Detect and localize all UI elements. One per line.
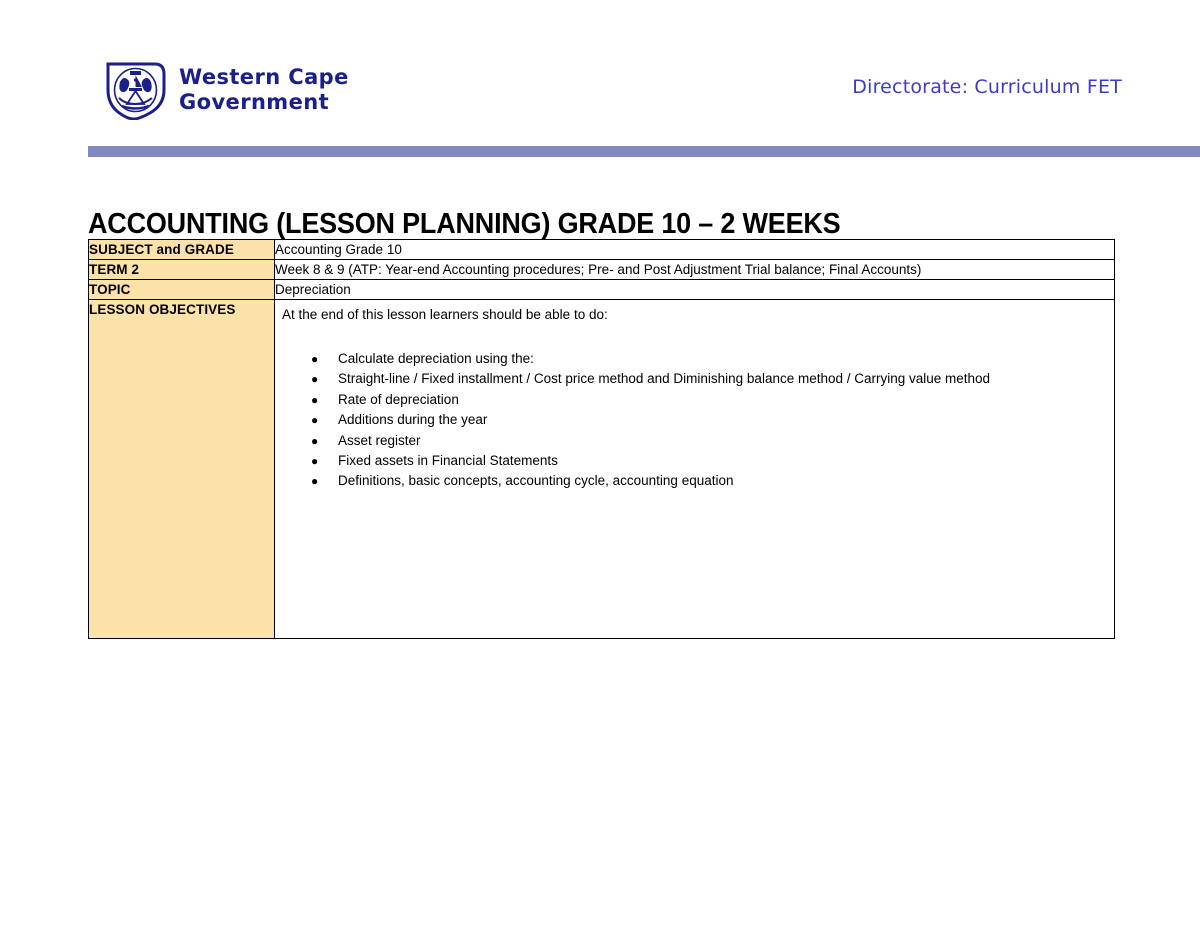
list-item: ● Asset register <box>311 431 1114 451</box>
bullet-icon: ● <box>311 349 318 369</box>
organisation-logo: Western Cape Government <box>105 60 349 120</box>
row-label-subject-and-grade: SUBJECT and GRADE <box>89 240 275 260</box>
list-item-label: Rate of depreciation <box>338 392 459 407</box>
table-row: LESSON OBJECTIVES At the end of this les… <box>89 300 1115 639</box>
bullet-icon: ● <box>311 471 318 491</box>
list-item-label: Asset register <box>338 433 421 448</box>
bullet-icon: ● <box>311 451 318 471</box>
directorate-label: Directorate: Curriculum FET <box>852 76 1122 98</box>
table-row: TERM 2 Week 8 & 9 (ATP: Year-end Account… <box>89 260 1115 280</box>
list-item: ● Rate of depreciation <box>311 390 1114 410</box>
list-item-label: Definitions, basic concepts, accounting … <box>338 473 734 488</box>
bullet-icon: ● <box>311 369 318 389</box>
row-value-term: Week 8 & 9 (ATP: Year-end Accounting pro… <box>275 260 1115 280</box>
logo-wordmark: Western Cape Government <box>179 65 349 115</box>
coat-of-arms-icon <box>105 60 167 120</box>
table-row: SUBJECT and GRADE Accounting Grade 10 <box>89 240 1115 260</box>
list-item-label: Straight-line / Fixed installment / Cost… <box>338 371 990 386</box>
row-label-lesson-objectives: LESSON OBJECTIVES <box>89 300 275 639</box>
lesson-plan-table: SUBJECT and GRADE Accounting Grade 10 TE… <box>88 239 1115 639</box>
table-row: TOPIC Depreciation <box>89 280 1115 300</box>
list-item: ● Fixed assets in Financial Statements <box>311 451 1114 471</box>
objectives-intro: At the end of this lesson learners shoul… <box>282 305 1114 324</box>
bullet-icon: ● <box>311 431 318 451</box>
row-label-term: TERM 2 <box>89 260 275 280</box>
row-value-lesson-objectives: At the end of this lesson learners shoul… <box>275 300 1115 639</box>
bullet-icon: ● <box>311 390 318 410</box>
objectives-list: ● Calculate depreciation using the: ● St… <box>282 349 1114 492</box>
list-item-label: Additions during the year <box>338 412 487 427</box>
list-item: ● Additions during the year <box>311 410 1114 430</box>
row-value-topic: Depreciation <box>275 280 1115 300</box>
bullet-icon: ● <box>311 410 318 430</box>
list-item: ● Calculate depreciation using the: <box>311 349 1114 369</box>
list-item-label: Calculate depreciation using the: <box>338 351 534 366</box>
row-value-subject-and-grade: Accounting Grade 10 <box>275 240 1115 260</box>
page-title: ACCOUNTING (LESSON PLANNING) GRADE 10 – … <box>88 207 841 241</box>
list-item: ● Definitions, basic concepts, accountin… <box>311 471 1114 491</box>
list-item-label: Fixed assets in Financial Statements <box>338 453 558 468</box>
header-divider-bar <box>88 146 1200 157</box>
list-item: ● Straight-line / Fixed installment / Co… <box>311 369 1114 389</box>
row-label-topic: TOPIC <box>89 280 275 300</box>
page-header: Western Cape Government Directorate: Cur… <box>0 0 1200 152</box>
